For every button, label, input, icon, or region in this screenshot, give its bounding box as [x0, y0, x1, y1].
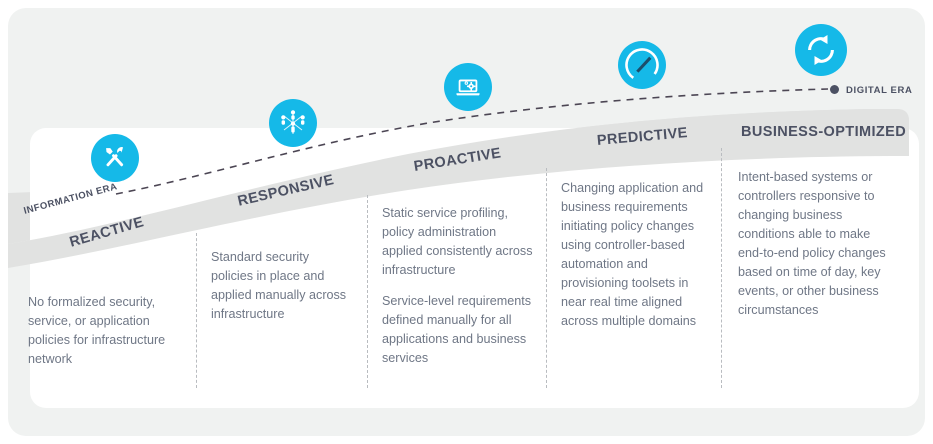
- hammer-wrench-icon: [91, 134, 139, 182]
- stage-paragraph: Service-level requirements defined manua…: [382, 292, 534, 368]
- maturity-model-infographic: INFORMATION ERA DIGITAL ERA REACTIVE RES…: [0, 0, 933, 444]
- stage-body-proactive: Static service profiling, policy adminis…: [382, 204, 534, 368]
- column-divider-4: [721, 148, 722, 388]
- laptop-gears-icon: [444, 63, 492, 111]
- column-divider-3: [546, 168, 547, 388]
- stage-label-business-optimized: BUSINESS-OPTIMIZED: [741, 124, 906, 140]
- digital-era-label: DIGITAL ERA: [846, 85, 912, 96]
- stage-paragraph: Static service profiling, policy adminis…: [382, 204, 534, 280]
- stage-body-business-optimized: Intent-based systems or controllers resp…: [738, 168, 890, 320]
- digital-era-dot: [830, 85, 839, 94]
- stage-body-predictive: Changing application and business requir…: [561, 179, 711, 331]
- stage-paragraph: Intent-based systems or controllers resp…: [738, 168, 890, 320]
- infographic-canvas: INFORMATION ERA DIGITAL ERA REACTIVE RES…: [8, 8, 925, 436]
- stage-paragraph: Changing application and business requir…: [561, 179, 711, 331]
- network-nodes-icon: [269, 99, 317, 147]
- stage-body-reactive: No formalized security, service, or appl…: [28, 293, 180, 369]
- stage-paragraph: No formalized security, service, or appl…: [28, 293, 180, 369]
- stage-paragraph: Standard security policies in place and …: [211, 248, 351, 324]
- column-divider-1: [196, 233, 197, 388]
- column-divider-2: [367, 195, 368, 388]
- speedometer-icon: [618, 41, 666, 89]
- refresh-cycle-icon: [795, 24, 847, 76]
- stage-body-responsive: Standard security policies in place and …: [211, 248, 351, 324]
